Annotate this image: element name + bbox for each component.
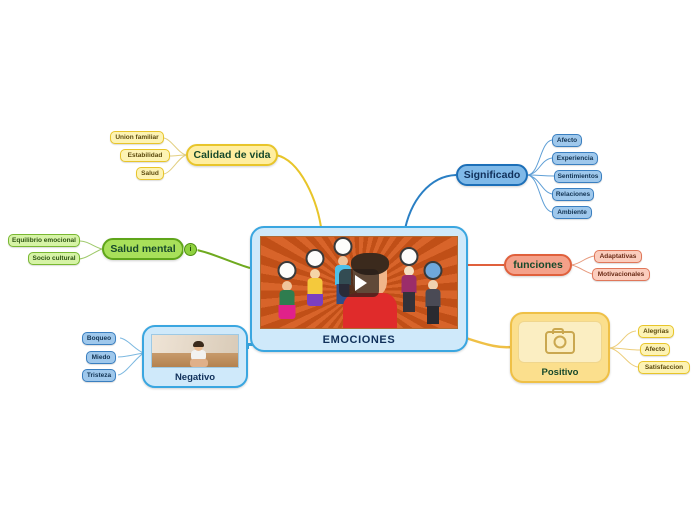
- figure-body: [308, 278, 323, 295]
- leaf-label: Afecto: [557, 137, 577, 144]
- leaf-label: Satisfaccion: [645, 364, 683, 371]
- leaf-label: Afecto: [645, 346, 665, 353]
- central-node-title: EMOCIONES: [323, 329, 396, 346]
- leaf-label: Miedo: [92, 354, 111, 361]
- branch-label: Significado: [464, 169, 521, 181]
- leaf-label: Sentimientos: [558, 173, 599, 180]
- leaf-node-miedo[interactable]: Miedo: [86, 351, 116, 364]
- crowd-figure: [305, 267, 325, 325]
- figure-skirt: [279, 305, 296, 319]
- leaf-node-salud[interactable]: Salud: [136, 167, 164, 180]
- leaf-label: Tristeza: [87, 372, 111, 379]
- leaf-node-boqueo[interactable]: Boqueo: [82, 332, 116, 345]
- leaf-label: Motivacionales: [598, 271, 645, 278]
- leaf-label: Equilibrio emocional: [12, 237, 76, 244]
- leaf-node-satisfaccion[interactable]: Satisfaccion: [638, 361, 690, 374]
- thought-bubble-icon: [424, 261, 443, 280]
- camera-icon: [545, 331, 575, 354]
- leaf-label: Experiencia: [557, 155, 594, 162]
- crowd-figure: [277, 279, 297, 327]
- foreground-shirt: [343, 293, 397, 329]
- leaf-node-equilibrio-emocional[interactable]: Equilibrio emocional: [8, 234, 80, 247]
- leaf-node-socio-cultural[interactable]: Socio cultural: [28, 252, 80, 265]
- leaf-node-ambiente[interactable]: Ambiente: [552, 206, 592, 219]
- figure-body: [280, 290, 295, 306]
- branch-node-significado[interactable]: Significado: [456, 164, 528, 186]
- branch-label: funciones: [513, 259, 563, 271]
- thought-bubble-icon: [334, 237, 353, 256]
- figure-body: [402, 275, 417, 293]
- play-icon[interactable]: [339, 269, 379, 297]
- leaf-label: Salud: [141, 170, 159, 177]
- thought-bubble-icon: [278, 261, 297, 280]
- leaf-node-afecto[interactable]: Afecto: [552, 134, 582, 147]
- figure-skirt: [307, 294, 323, 306]
- branch-label: Negativo: [175, 368, 215, 383]
- leaf-label: Estabilidad: [128, 152, 163, 159]
- branch-node-funciones[interactable]: funciones: [504, 254, 572, 276]
- leaf-node-afecto[interactable]: Afecto: [640, 343, 670, 356]
- branch-label: Salud mental: [110, 243, 175, 255]
- leaf-label: Adaptativas: [600, 253, 637, 260]
- thought-bubble-icon: [306, 249, 325, 268]
- central-video-thumbnail[interactable]: [260, 236, 458, 329]
- crowd-figure: [399, 263, 419, 323]
- figure-body: [426, 289, 441, 307]
- leaf-label: Relaciones: [556, 191, 590, 198]
- branch-label: Positivo: [542, 363, 579, 378]
- info-badge-label: i: [190, 246, 192, 253]
- child-hair: [193, 341, 204, 347]
- child-legs: [190, 359, 208, 367]
- branch-node-salud-mental[interactable]: Salud mental: [102, 238, 184, 260]
- leaf-node-estabilidad[interactable]: Estabilidad: [120, 149, 170, 162]
- leaf-node-union-familiar[interactable]: Union familiar: [110, 131, 164, 144]
- negativo-photo-thumbnail[interactable]: [151, 334, 239, 368]
- leaf-node-sentimientos[interactable]: Sentimientos: [554, 170, 602, 183]
- leaf-node-tristeza[interactable]: Tristeza: [82, 369, 116, 382]
- mindmap-canvas: EMOCIONES Calidad de vida Union familiar…: [0, 0, 696, 520]
- leaf-node-alegrias[interactable]: Alegrias: [638, 325, 674, 338]
- leaf-label: Boqueo: [87, 335, 111, 342]
- positivo-image-placeholder[interactable]: [518, 321, 602, 363]
- leaf-label: Alegrias: [643, 328, 669, 335]
- play-triangle: [355, 275, 367, 291]
- branch-node-positivo[interactable]: Positivo: [510, 312, 610, 383]
- photo-child-figure: [190, 342, 210, 368]
- central-node-emociones[interactable]: EMOCIONES: [250, 226, 468, 352]
- branch-node-negativo[interactable]: Negativo: [142, 325, 248, 388]
- figure-legs: [427, 306, 439, 324]
- info-badge-icon[interactable]: i: [184, 243, 197, 256]
- figure-legs: [403, 292, 415, 312]
- thought-bubble-icon: [400, 247, 419, 266]
- leaf-node-relaciones[interactable]: Relaciones: [552, 188, 594, 201]
- leaf-node-adaptativas[interactable]: Adaptativas: [594, 250, 642, 263]
- leaf-node-motivacionales[interactable]: Motivacionales: [592, 268, 650, 281]
- leaf-label: Socio cultural: [33, 255, 76, 262]
- leaf-label: Union familiar: [115, 134, 158, 141]
- branch-node-calidad-de-vida[interactable]: Calidad de vida: [186, 144, 278, 166]
- leaf-node-experiencia[interactable]: Experiencia: [552, 152, 598, 165]
- leaf-label: Ambiente: [557, 209, 587, 216]
- crowd-figure: [423, 277, 443, 329]
- branch-label: Calidad de vida: [193, 149, 270, 161]
